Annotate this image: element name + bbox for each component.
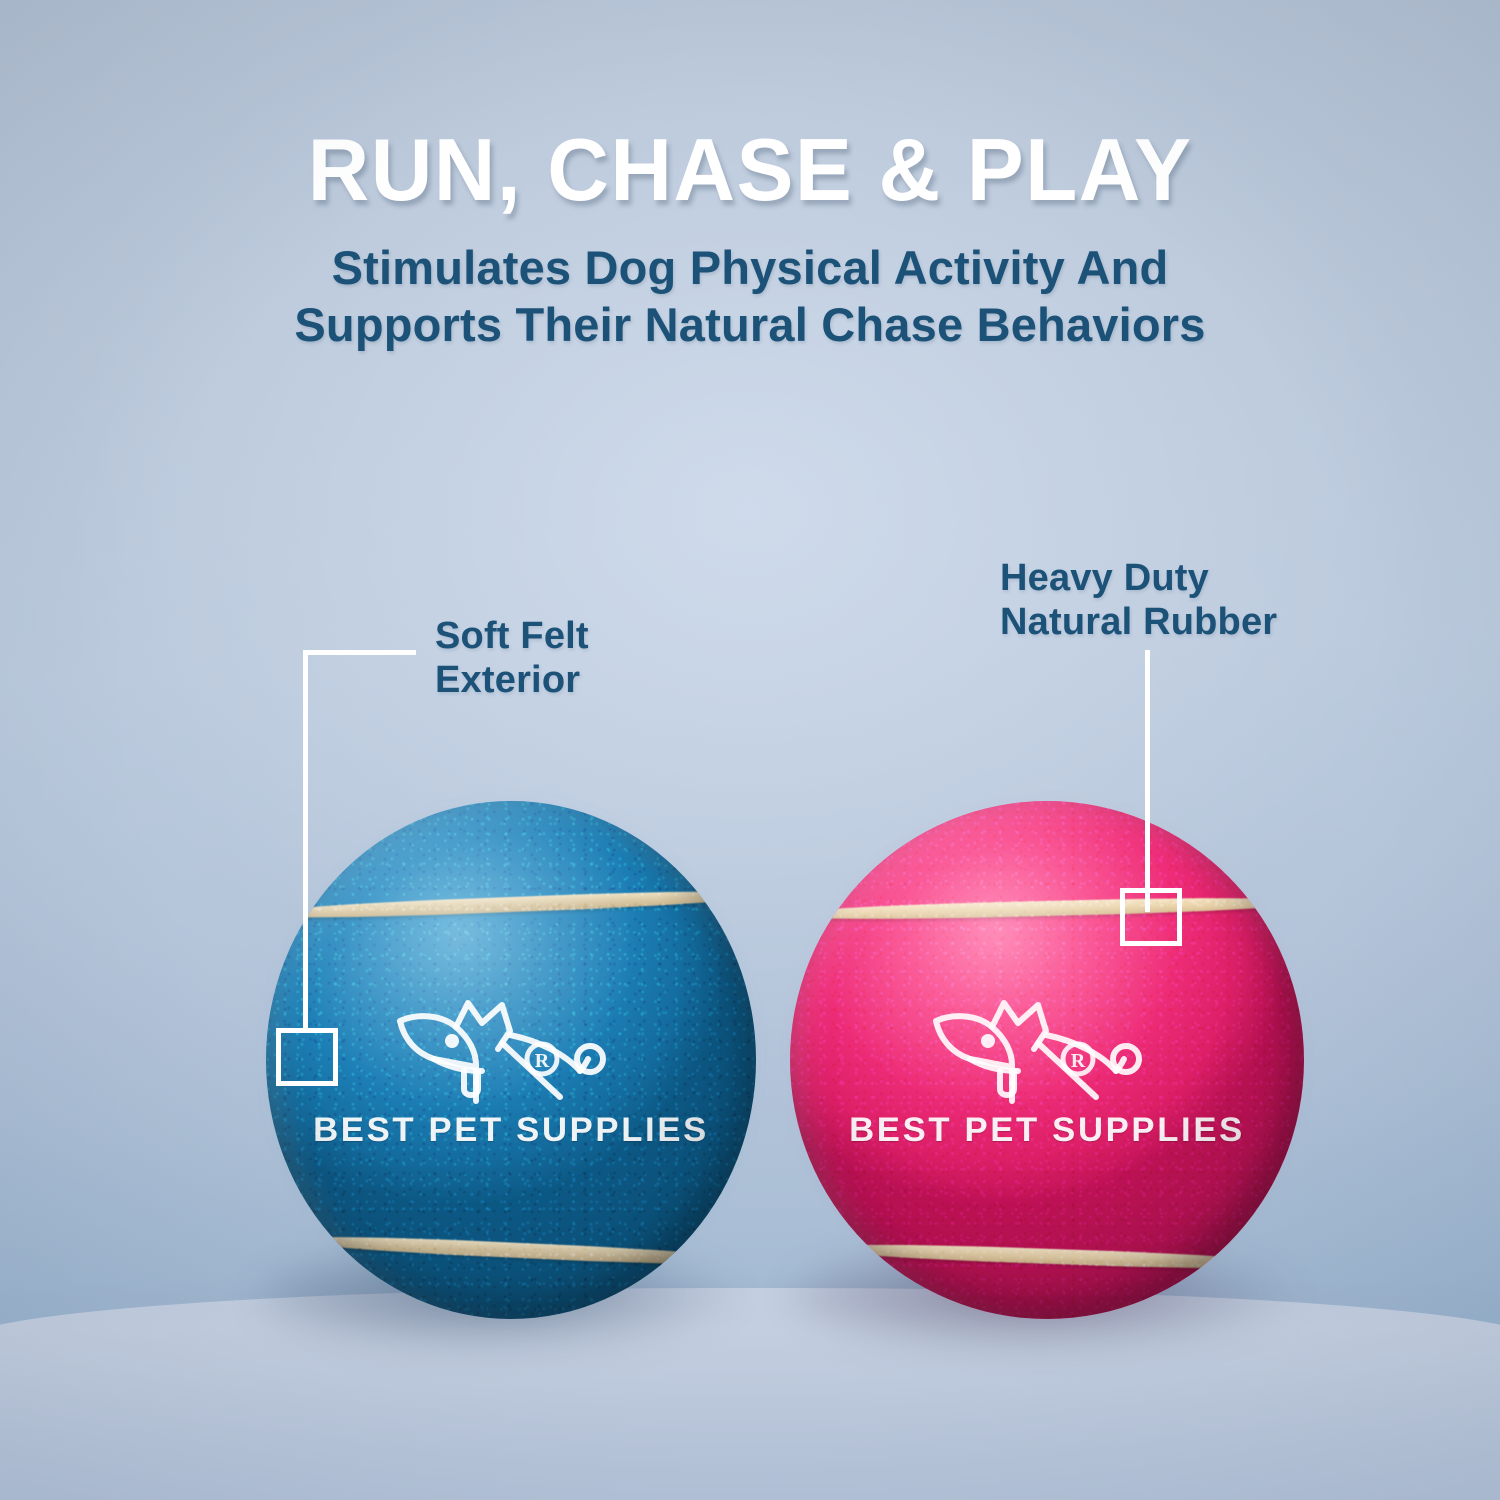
callout-left-leader-vertical (303, 650, 308, 1032)
callout-label-soft-felt-exterior: Soft Felt Exterior (435, 614, 589, 702)
callout-left-leader-horizontal (303, 650, 416, 655)
marketing-banner: RUN, CHASE & PLAY Stimulates Dog Physica… (0, 0, 1500, 1500)
callout-right-line-2: Natural Rubber (1000, 600, 1277, 644)
callout-right-highlight-box[interactable] (1120, 888, 1182, 946)
callout-label-heavy-duty-natural-rubber: Heavy Duty Natural Rubber (1000, 556, 1277, 644)
callout-right-leader-vertical (1145, 650, 1150, 912)
pink-ball-rim (790, 801, 1304, 1319)
subheading-line-1: Stimulates Dog Physical Activity And (190, 240, 1310, 297)
callout-left-line-2: Exterior (435, 658, 589, 702)
callout-left-highlight-box[interactable] (276, 1028, 338, 1086)
subheading-line-2: Supports Their Natural Chase Behaviors (190, 297, 1310, 354)
page-title: RUN, CHASE & PLAY (23, 126, 1478, 214)
product-blue-tennis-ball[interactable]: R BEST PET SUPPLIES (266, 801, 756, 1319)
product-pink-tennis-ball[interactable]: R BEST PET SUPPLIES (790, 801, 1304, 1319)
callout-right-line-1: Heavy Duty (1000, 556, 1277, 600)
blue-ball-rim (266, 801, 756, 1319)
subheading: Stimulates Dog Physical Activity And Sup… (190, 240, 1310, 354)
callout-left-line-1: Soft Felt (435, 614, 589, 658)
